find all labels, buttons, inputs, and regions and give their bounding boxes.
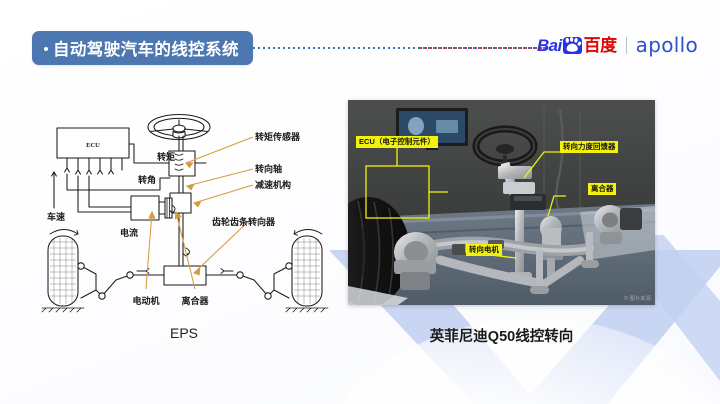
svg-text:转矩传感器: 转矩传感器	[255, 131, 301, 143]
baidu-latin-text: Bai	[537, 37, 562, 54]
svg-text:减速机构: 减速机构	[255, 179, 291, 191]
photo-callout-force-feedback: 转向力度回馈器	[560, 141, 618, 153]
photo-callout-steering-motor: 转向电机	[466, 244, 502, 256]
eps-figure-caption: EPS	[34, 325, 334, 341]
svg-text:齿轮齿条转向器: 齿轮齿条转向器	[212, 216, 276, 228]
svg-text:转向轴: 转向轴	[255, 163, 282, 175]
eps-schematic-diagram: ECU 转矩 转角 车速 电流 转矩传感器 转向轴 减速机构 齿轮齿条转向器 电…	[34, 108, 334, 313]
photo-content	[348, 100, 655, 305]
photo-callout-clutch: 离合器	[588, 183, 616, 195]
svg-text:离合器: 离合器	[181, 295, 209, 307]
svg-text:转角: 转角	[138, 174, 156, 186]
steer-by-wire-photo: ECU（电子控制元件） 转向力度回馈器 离合器 转向电机 © 图片来源	[348, 100, 655, 305]
photo-figure-caption: 英菲尼迪Q50线控转向	[348, 325, 655, 346]
svg-text:电动机: 电动机	[132, 295, 159, 307]
baidu-chinese-text: 百度	[584, 37, 617, 54]
bullet-dot-icon	[44, 47, 48, 51]
svg-text:电流: 电流	[120, 227, 138, 239]
photo-watermark: © 图片来源	[624, 295, 651, 302]
svg-text:ECU: ECU	[86, 142, 100, 149]
brand-logo-row: Bai 百度 apollo	[537, 32, 698, 58]
photo-callout-ecu: ECU（电子控制元件）	[356, 136, 438, 148]
baidu-logo: Bai 百度	[537, 35, 617, 55]
page-title: 自动驾驶汽车的线控系统	[53, 36, 239, 60]
baidu-paw-icon	[563, 37, 582, 54]
header-dotted-rule-red	[420, 47, 550, 49]
apollo-logo: apollo	[636, 35, 698, 55]
logo-divider	[626, 37, 627, 54]
svg-text:转矩: 转矩	[157, 151, 175, 163]
slide-title-chip: 自动驾驶汽车的线控系统	[32, 31, 253, 65]
svg-text:车速: 车速	[47, 211, 65, 223]
slide-canvas: 自动驾驶汽车的线控系统 Bai 百度 apollo	[0, 0, 720, 404]
